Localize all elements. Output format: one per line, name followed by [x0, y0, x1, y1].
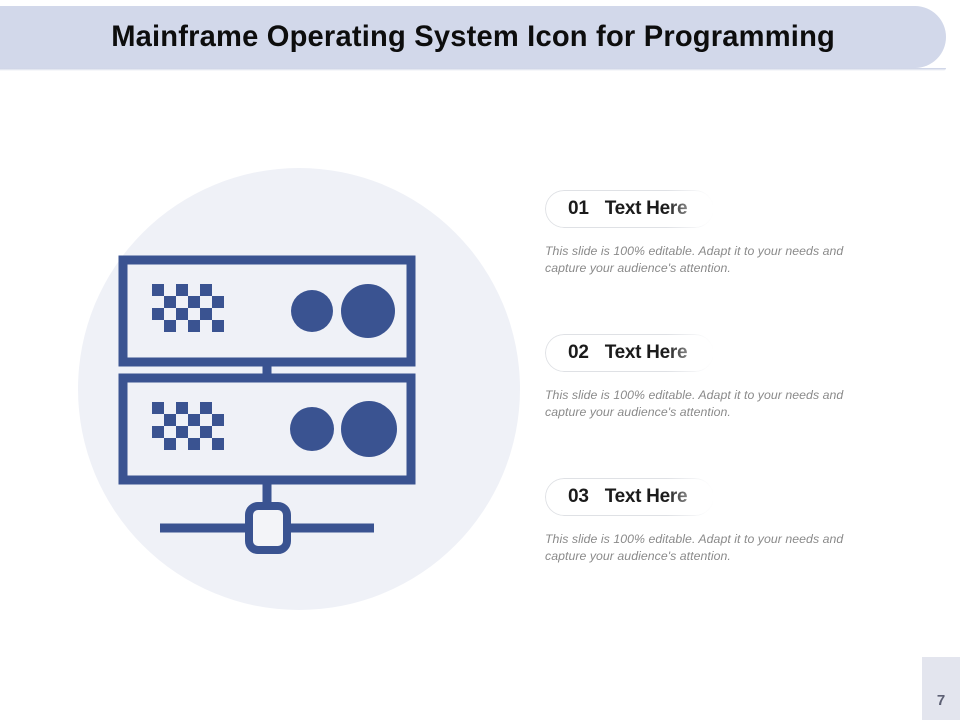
block-body-01: This slide is 100% editable. Adapt it to…	[545, 243, 875, 278]
slide-title-bar: Mainframe Operating System Icon for Prog…	[0, 6, 946, 68]
page-title: Mainframe Operating System Icon for Prog…	[111, 20, 835, 54]
block-body-02: This slide is 100% editable. Adapt it to…	[545, 387, 875, 422]
server-stack-icon	[60, 150, 540, 630]
block-label-02: Text Here	[605, 342, 688, 364]
block-label-03: Text Here	[605, 486, 688, 508]
checkerboard-pattern-lower	[152, 402, 224, 450]
indicator-light-small	[291, 290, 333, 332]
block-pill-03[interactable]: 03 Text Here	[545, 478, 714, 516]
indicator-light-small	[290, 407, 334, 451]
content-block-02: 02 Text Here This slide is 100% editable…	[545, 334, 945, 422]
block-number-02: 02	[568, 342, 589, 364]
content-list: 01 Text Here This slide is 100% editable…	[545, 190, 945, 622]
block-number-03: 03	[568, 486, 589, 508]
indicator-light-large	[341, 284, 395, 338]
mainframe-server-icon	[60, 150, 540, 630]
checkerboard-pattern-upper	[152, 284, 224, 332]
slide-canvas: Mainframe Operating System Icon for Prog…	[0, 0, 960, 720]
page-number: 7	[937, 692, 945, 709]
content-block-03: 03 Text Here This slide is 100% editable…	[545, 478, 945, 566]
indicator-light-large	[341, 401, 397, 457]
content-block-01: 01 Text Here This slide is 100% editable…	[545, 190, 945, 278]
block-number-01: 01	[568, 198, 589, 220]
page-number-badge: 7	[922, 657, 960, 720]
block-body-03: This slide is 100% editable. Adapt it to…	[545, 531, 875, 566]
block-label-01: Text Here	[605, 198, 688, 220]
block-pill-02[interactable]: 02 Text Here	[545, 334, 714, 372]
block-pill-01[interactable]: 01 Text Here	[545, 190, 714, 228]
